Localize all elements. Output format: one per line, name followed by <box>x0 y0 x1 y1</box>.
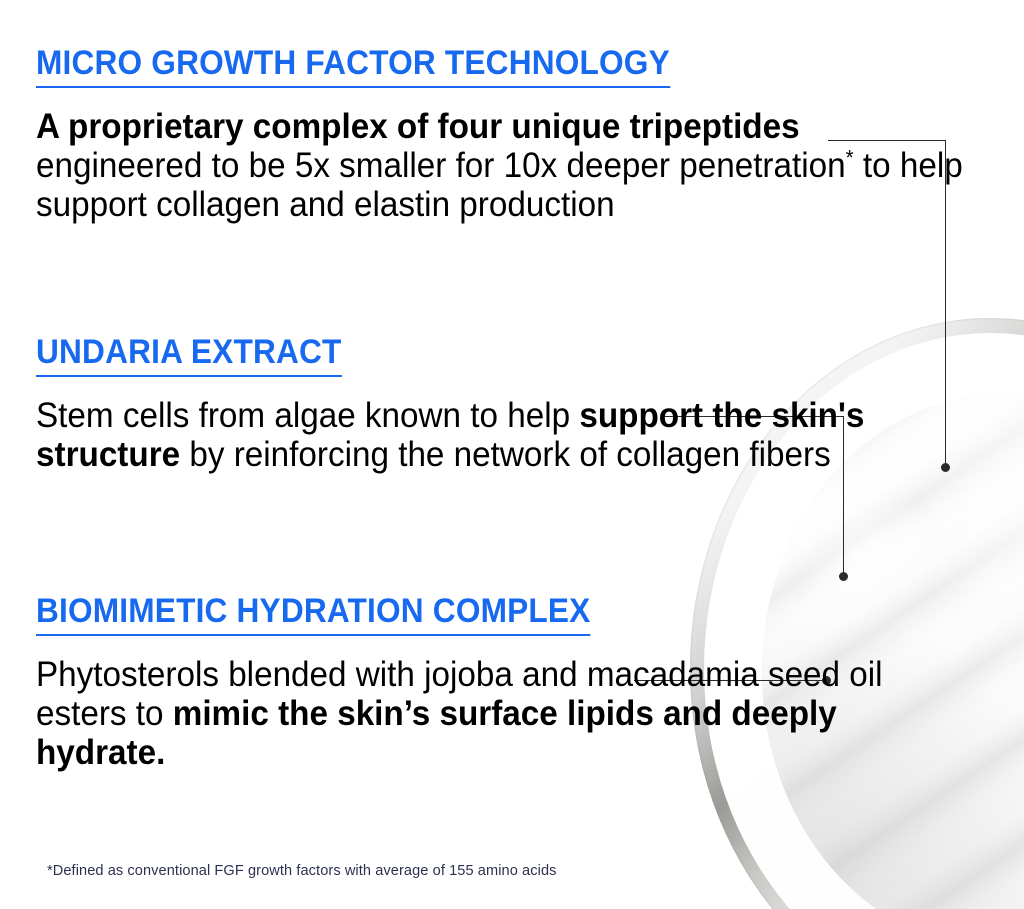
section-biomimetic-hydration-complex: BIOMIMETIC HYDRATION COMPLEX Phytosterol… <box>36 592 1024 772</box>
ingredient-infographic: MICRO GROWTH FACTOR TECHNOLOGY A proprie… <box>0 0 1024 909</box>
footnote: *Defined as conventional FGF growth fact… <box>47 861 557 881</box>
section-body: Stem cells from algae known to help supp… <box>36 396 975 474</box>
section-undaria-extract: UNDARIA EXTRACT Stem cells from algae kn… <box>36 333 1024 474</box>
section-body: A proprietary complex of four unique tri… <box>36 107 975 224</box>
section-heading: MICRO GROWTH FACTOR TECHNOLOGY <box>36 44 670 88</box>
section-heading: UNDARIA EXTRACT <box>36 333 342 377</box>
section-micro-growth-factor: MICRO GROWTH FACTOR TECHNOLOGY A proprie… <box>36 44 1024 224</box>
section-heading: BIOMIMETIC HYDRATION COMPLEX <box>36 592 590 636</box>
section-body: Phytosterols blended with jojoba and mac… <box>36 655 975 772</box>
leader-endpoint-dot <box>839 572 848 581</box>
